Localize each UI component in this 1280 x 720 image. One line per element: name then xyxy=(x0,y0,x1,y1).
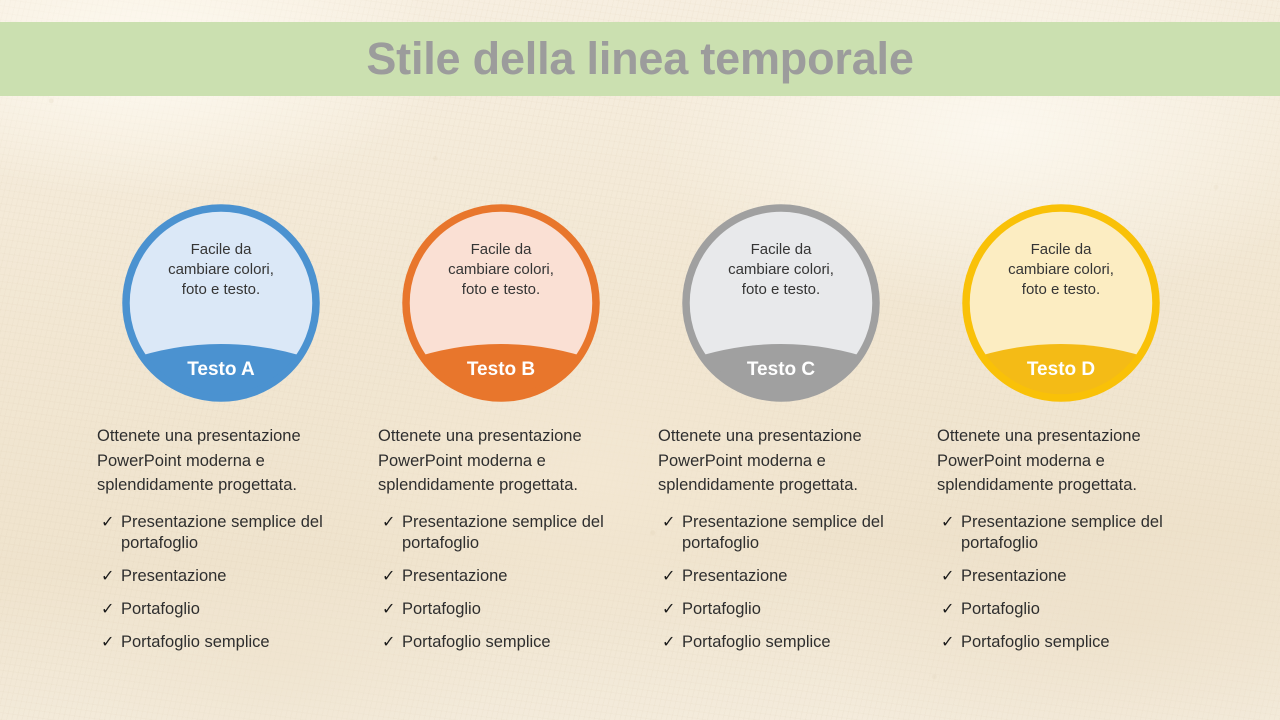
list-item[interactable]: ✓ Presentazione semplice del portafoglio xyxy=(658,512,906,554)
node-description-1: Facile da cambiare colori, foto e testo. xyxy=(140,240,302,300)
node-description-4: Facile da cambiare colori, foto e testo. xyxy=(980,240,1142,300)
node-description-line: cambiare colori, xyxy=(420,260,582,280)
list-item-label: Portafoglio xyxy=(682,599,906,620)
node-description-line: Facile da xyxy=(420,240,582,260)
list-item[interactable]: ✓ Portafoglio semplice xyxy=(97,632,345,653)
list-item-label: Presentazione semplice del portafoglio xyxy=(682,512,906,554)
list-item-label: Presentazione xyxy=(121,566,345,587)
check-icon: ✓ xyxy=(378,512,402,533)
node-description-line: cambiare colori, xyxy=(140,260,302,280)
check-icon: ✓ xyxy=(658,599,682,620)
list-item-label: Presentazione semplice del portafoglio xyxy=(121,512,345,554)
node-description-line: cambiare colori, xyxy=(700,260,862,280)
check-icon: ✓ xyxy=(97,632,121,653)
list-item[interactable]: ✓ Portafoglio xyxy=(97,599,345,620)
content-column-4: Ottenete una presentazione PowerPoint mo… xyxy=(937,424,1185,665)
timeline-node-3[interactable]: Facile da cambiare colori, foto e testo.… xyxy=(682,204,880,402)
check-icon: ✓ xyxy=(658,566,682,587)
content-column-2: Ottenete una presentazione PowerPoint mo… xyxy=(378,424,626,665)
list-item[interactable]: ✓ Portafoglio xyxy=(378,599,626,620)
node-description-line: foto e testo. xyxy=(140,280,302,300)
content-column-3: Ottenete una presentazione PowerPoint mo… xyxy=(658,424,906,665)
check-icon: ✓ xyxy=(97,512,121,533)
content-column-1: Ottenete una presentazione PowerPoint mo… xyxy=(97,424,345,665)
node-label-3: Testo C xyxy=(692,359,870,381)
list-item[interactable]: ✓ Portafoglio xyxy=(658,599,906,620)
node-label-4: Testo D xyxy=(972,359,1150,381)
list-item-label: Portafoglio xyxy=(961,599,1185,620)
check-icon: ✓ xyxy=(97,566,121,587)
list-item-label: Portafoglio semplice xyxy=(402,632,626,653)
list-item-label: Presentazione semplice del portafoglio xyxy=(402,512,626,554)
bullet-list-1: ✓ Presentazione semplice del portafoglio… xyxy=(97,512,345,653)
check-icon: ✓ xyxy=(937,599,961,620)
node-description-line: Facile da xyxy=(140,240,302,260)
list-item[interactable]: ✓ Portafoglio semplice xyxy=(658,632,906,653)
check-icon: ✓ xyxy=(937,632,961,653)
list-item[interactable]: ✓ Portafoglio xyxy=(937,599,1185,620)
column-intro-1: Ottenete una presentazione PowerPoint mo… xyxy=(97,424,345,498)
node-description-line: cambiare colori, xyxy=(980,260,1142,280)
list-item[interactable]: ✓ Presentazione xyxy=(378,566,626,587)
list-item[interactable]: ✓ Presentazione xyxy=(97,566,345,587)
node-description-line: foto e testo. xyxy=(700,280,862,300)
column-intro-3: Ottenete una presentazione PowerPoint mo… xyxy=(658,424,906,498)
list-item-label: Presentazione xyxy=(402,566,626,587)
list-item[interactable]: ✓ Presentazione xyxy=(658,566,906,587)
check-icon: ✓ xyxy=(937,512,961,533)
check-icon: ✓ xyxy=(97,599,121,620)
list-item[interactable]: ✓ Presentazione xyxy=(937,566,1185,587)
list-item[interactable]: ✓ Presentazione semplice del portafoglio xyxy=(378,512,626,554)
column-intro-4: Ottenete una presentazione PowerPoint mo… xyxy=(937,424,1185,498)
check-icon: ✓ xyxy=(658,632,682,653)
list-item[interactable]: ✓ Portafoglio semplice xyxy=(378,632,626,653)
slide-canvas: Stile della linea temporale Facile da ca… xyxy=(0,0,1280,720)
timeline-node-2[interactable]: Facile da cambiare colori, foto e testo.… xyxy=(402,204,600,402)
bullet-list-4: ✓ Presentazione semplice del portafoglio… xyxy=(937,512,1185,653)
list-item-label: Portafoglio xyxy=(121,599,345,620)
list-item-label: Portafoglio semplice xyxy=(961,632,1185,653)
node-description-line: foto e testo. xyxy=(420,280,582,300)
list-item-label: Presentazione xyxy=(961,566,1185,587)
node-description-3: Facile da cambiare colori, foto e testo. xyxy=(700,240,862,300)
list-item-label: Portafoglio xyxy=(402,599,626,620)
list-item-label: Portafoglio semplice xyxy=(682,632,906,653)
list-item[interactable]: ✓ Portafoglio semplice xyxy=(937,632,1185,653)
check-icon: ✓ xyxy=(937,566,961,587)
list-item-label: Presentazione semplice del portafoglio xyxy=(961,512,1185,554)
list-item[interactable]: ✓ Presentazione semplice del portafoglio xyxy=(97,512,345,554)
check-icon: ✓ xyxy=(378,632,402,653)
node-description-line: foto e testo. xyxy=(980,280,1142,300)
node-label-2: Testo B xyxy=(412,359,590,381)
check-icon: ✓ xyxy=(378,566,402,587)
list-item-label: Presentazione xyxy=(682,566,906,587)
bullet-list-2: ✓ Presentazione semplice del portafoglio… xyxy=(378,512,626,653)
node-label-1: Testo A xyxy=(132,359,310,381)
node-description-line: Facile da xyxy=(980,240,1142,260)
timeline-node-4[interactable]: Facile da cambiare colori, foto e testo.… xyxy=(962,204,1160,402)
page-title: Stile della linea temporale xyxy=(366,33,913,85)
timeline-node-1[interactable]: Facile da cambiare colori, foto e testo.… xyxy=(122,204,320,402)
title-banner: Stile della linea temporale xyxy=(0,22,1280,96)
check-icon: ✓ xyxy=(658,512,682,533)
list-item-label: Portafoglio semplice xyxy=(121,632,345,653)
node-description-2: Facile da cambiare colori, foto e testo. xyxy=(420,240,582,300)
bullet-list-3: ✓ Presentazione semplice del portafoglio… xyxy=(658,512,906,653)
check-icon: ✓ xyxy=(378,599,402,620)
node-description-line: Facile da xyxy=(700,240,862,260)
column-intro-2: Ottenete una presentazione PowerPoint mo… xyxy=(378,424,626,498)
list-item[interactable]: ✓ Presentazione semplice del portafoglio xyxy=(937,512,1185,554)
